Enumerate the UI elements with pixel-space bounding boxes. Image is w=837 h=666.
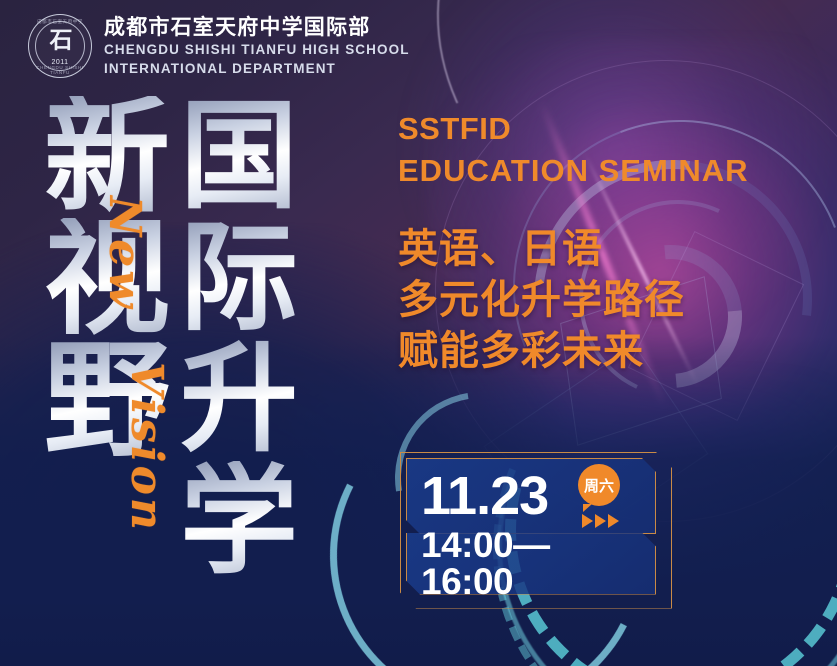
school-name-en-line2: INTERNATIONAL DEPARTMENT xyxy=(104,62,410,76)
school-name-group: 成都市石室天府中学国际部 CHENGDU SHISHI TIANFU HIGH … xyxy=(104,17,410,75)
play-arrow-icon xyxy=(582,514,593,528)
seminar-info-panel: SSTFID EDUCATION SEMINAR 英语、日语 多元化升学路径 赋… xyxy=(398,108,818,377)
event-time-row: 14:00—16:00 xyxy=(406,533,656,595)
event-time: 14:00—16:00 xyxy=(421,526,641,600)
crest-mark: 石 xyxy=(50,30,71,53)
poster-canvas: 成都市石室天府中学 石 2011 CHENGDU SHISHI TIANFU 成… xyxy=(0,0,837,666)
seminar-acronym: SSTFID xyxy=(398,108,818,150)
headline-right-column: 国 际 升 学 xyxy=(180,96,298,582)
triple-play-arrow-icon xyxy=(582,514,619,528)
script-new-text: New xyxy=(99,196,150,311)
weekday-badge: 周六 xyxy=(578,464,620,506)
crest-ring-text-top: 成都市石室天府中学 xyxy=(29,19,91,25)
headline-char: 升 xyxy=(180,339,298,461)
seminar-cn-lines: 英语、日语 多元化升学路径 赋能多彩未来 xyxy=(398,224,818,378)
play-arrow-icon xyxy=(595,514,606,528)
seminar-cn-line: 英语、日语 xyxy=(398,224,818,275)
event-date: 11.23 xyxy=(421,469,548,523)
headline-char: 学 xyxy=(180,461,298,583)
event-datetime-box: 11.23 14:00—16:00 周六 xyxy=(406,458,656,595)
school-crest-icon: 成都市石室天府中学 石 2011 CHENGDU SHISHI TIANFU xyxy=(28,14,92,78)
script-vision-text: Vision xyxy=(121,362,172,533)
school-name-en-line1: CHENGDU SHISHI TIANFU HIGH SCHOOL xyxy=(104,43,410,57)
seminar-cn-line: 赋能多彩未来 xyxy=(398,326,818,377)
seminar-subtitle: EDUCATION SEMINAR xyxy=(398,150,818,192)
headline-char: 际 xyxy=(180,218,298,340)
school-name-cn: 成都市石室天府中学国际部 xyxy=(104,17,410,38)
headline-char: 国 xyxy=(180,96,298,218)
play-arrow-icon xyxy=(608,514,619,528)
crest-ring-text-bottom: CHENGDU SHISHI TIANFU xyxy=(29,65,91,75)
school-header: 成都市石室天府中学 石 2011 CHENGDU SHISHI TIANFU 成… xyxy=(28,14,410,78)
seminar-cn-line: 多元化升学路径 xyxy=(398,275,818,326)
